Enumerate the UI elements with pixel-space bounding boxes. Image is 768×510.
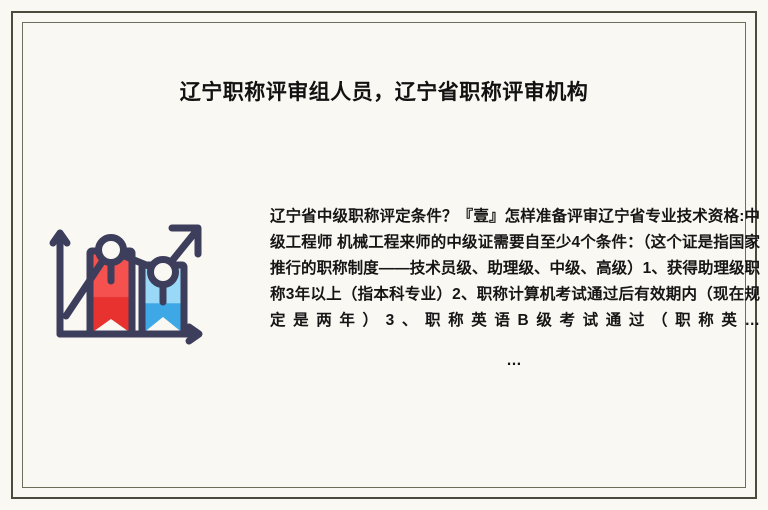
article-body-paragraph: 辽宁省中级职称评定条件？『壹』怎样准备评审辽宁省专业技术资格:中级工程师 机械工…: [270, 204, 760, 334]
data-node-1: [99, 238, 124, 263]
bar-chart-trend-icon: [46, 203, 216, 353]
data-node-2: [151, 260, 176, 285]
article-body: 辽宁省中级职称评定条件？『壹』怎样准备评审辽宁省专业技术资格:中级工程师 机械工…: [270, 204, 760, 374]
page-title: 辽宁职称评审组人员，辽宁省职称评审机构: [40, 78, 728, 108]
page-root: 辽宁职称评审组人员，辽宁省职称评审机构: [0, 0, 768, 510]
article-body-ellipsis: …: [270, 348, 760, 374]
